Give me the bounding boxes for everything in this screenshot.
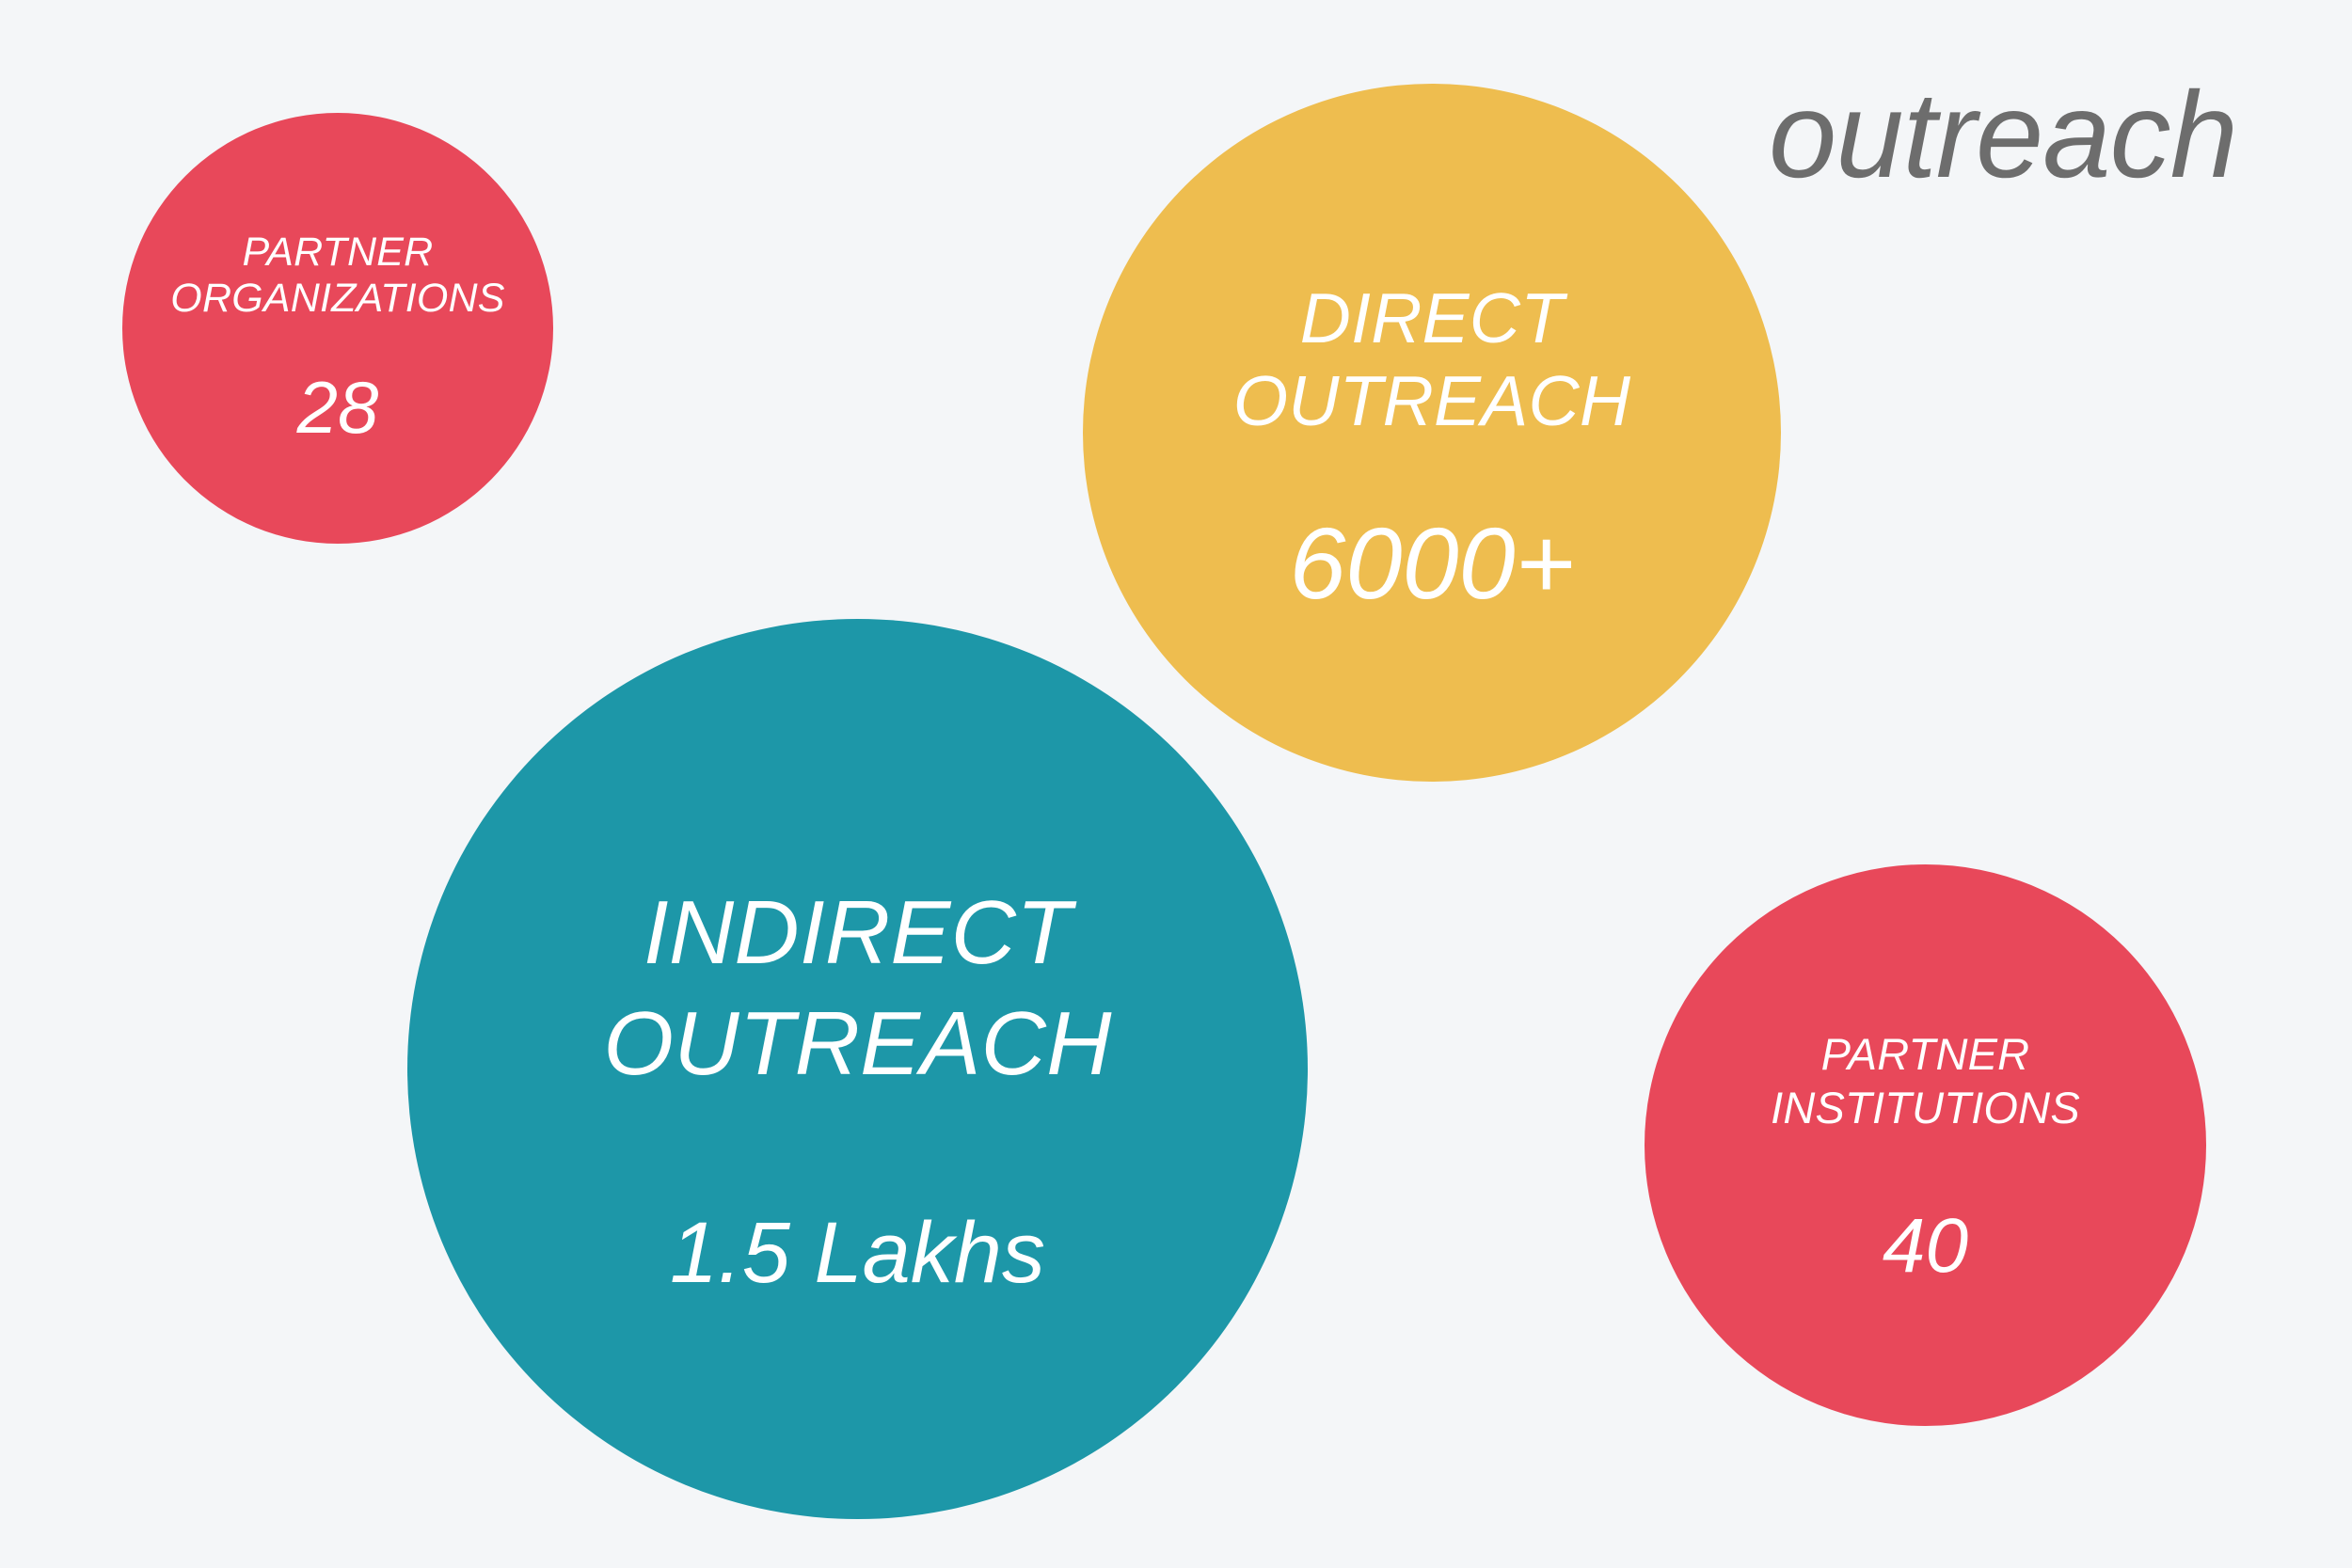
bubble-partner-organizations: PARTNER ORGANIZATIONS 28 xyxy=(122,113,553,544)
bubble-value-indirect-outreach: 1.5 Lakhs xyxy=(670,1210,1045,1296)
bubble-value-partner-organizations: 28 xyxy=(297,371,379,444)
page-title: outreach xyxy=(1769,73,2237,196)
bubble-direct-outreach: DIRECT OUTREACH 6000+ xyxy=(1083,84,1781,782)
bubble-label-indirect-outreach: INDIRECT OUTREACH xyxy=(603,878,1111,1098)
bubble-value-direct-outreach: 6000+ xyxy=(1289,513,1574,614)
bubble-label-partner-organizations: PARTNER ORGANIZATIONS xyxy=(170,230,504,322)
bubble-value-partner-institutions: 40 xyxy=(1883,1208,1968,1285)
outreach-infographic: PARTNER ORGANIZATIONS 28 DIRECT OUTREACH… xyxy=(0,0,2352,1568)
bubble-indirect-outreach: INDIRECT OUTREACH 1.5 Lakhs xyxy=(407,619,1308,1519)
bubble-label-direct-outreach: DIRECT OUTREACH xyxy=(1233,277,1630,443)
bubble-label-partner-institutions: PARTNER INSTITUTIONS xyxy=(1771,1028,2080,1134)
bubble-partner-institutions: PARTNER INSTITUTIONS 40 xyxy=(1645,864,2206,1426)
